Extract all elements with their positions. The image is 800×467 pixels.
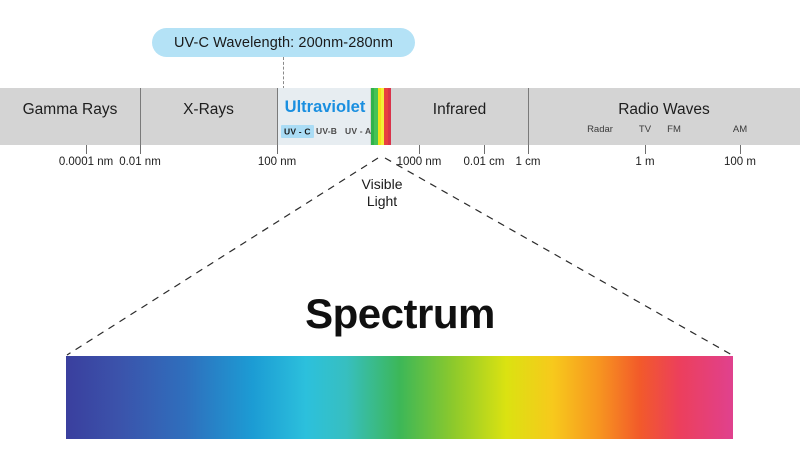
- page-title: Spectrum: [0, 290, 800, 338]
- spectrum-diagram: UV-C Wavelength: 200nm-280nm Gamma Rays …: [0, 0, 800, 467]
- visible-spectrum-bar: [66, 356, 733, 439]
